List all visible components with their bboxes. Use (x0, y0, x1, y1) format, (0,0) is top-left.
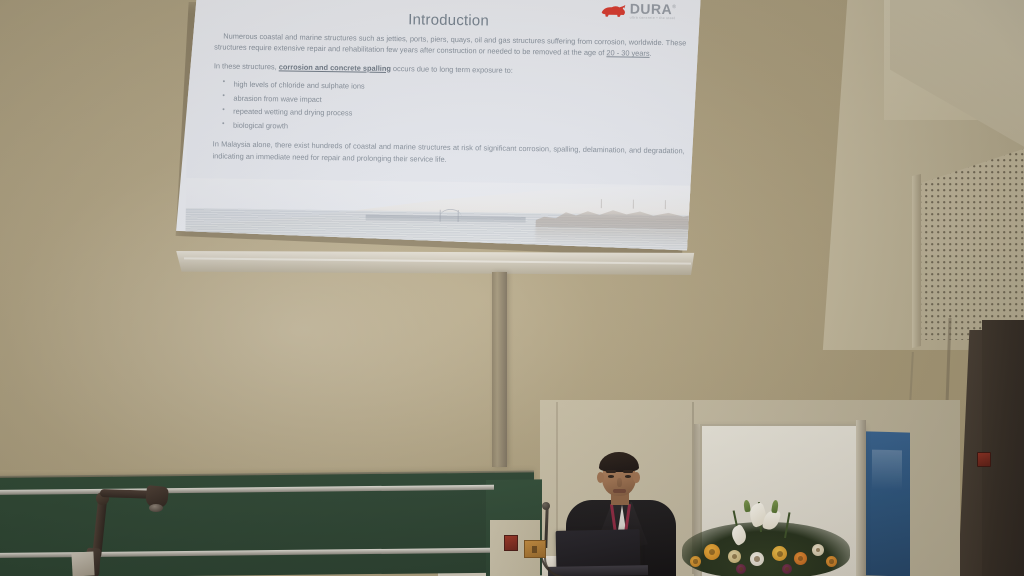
flower-bloom (750, 552, 764, 566)
presenter-nose (617, 478, 622, 487)
flower-bloom (736, 564, 746, 574)
dark-curtain (982, 320, 1024, 576)
flower-bloom (826, 556, 837, 567)
wall-socket-box[interactable] (524, 540, 546, 558)
flower-bloom (690, 556, 701, 567)
presenter-mouth (613, 489, 626, 493)
screen-support-post (492, 272, 507, 467)
presenter-ear-right (633, 472, 640, 483)
fire-alarm-call-point[interactable] (977, 452, 991, 467)
presenter-eyebrow-left (606, 470, 616, 473)
flower-arrangement (676, 500, 856, 576)
fire-alarm-call-point[interactable] (504, 535, 518, 551)
slide-paragraph-1: Numerous coastal and marine structures s… (214, 30, 686, 59)
paragraph-2-part-1: In these structures, (214, 61, 279, 71)
flower-bloom (794, 552, 807, 565)
projected-slide: DURA ultra concrete • the steel Introduc… (185, 0, 705, 264)
paragraph-2-part-3: occurs due to long term exposure to: (391, 64, 513, 75)
side-banner (866, 431, 910, 576)
slide-bullet-list: high levels of chloride and sulphate ion… (213, 78, 686, 137)
board-lamp-base (71, 551, 94, 576)
whiteboard-frame-right (856, 420, 866, 576)
slide-closing-paragraph: In Malaysia alone, there exist hundreds … (212, 139, 684, 168)
presenter-hair (599, 452, 639, 472)
acoustic-panel-edge (912, 174, 921, 348)
screen-surface: DURA ultra concrete • the steel Introduc… (175, 0, 705, 274)
presenter-eye-left (608, 475, 614, 478)
board-lamp-lens (149, 504, 163, 512)
screen-bottom-bar (173, 251, 707, 275)
flower-bloom (728, 550, 741, 563)
projection-screen: DURA ultra concrete • the steel Introduc… (155, 0, 695, 288)
microphone-head-icon[interactable] (542, 502, 550, 510)
flower-bloom (704, 544, 720, 560)
paragraph-1-part-3: . (650, 49, 652, 58)
flower-bloom (782, 564, 792, 574)
presenter-eyebrow-right (623, 470, 633, 473)
dura-logo-word: DURA (630, 1, 677, 16)
flower-bud (743, 500, 751, 513)
paragraph-1-underlined-age: 20 - 30 years (606, 48, 649, 58)
slide-body: Numerous coastal and marine structures s… (212, 30, 686, 175)
slide-paragraph-2: In these structures, corrosion and concr… (214, 60, 686, 78)
flower-bloom (772, 546, 787, 561)
presenter-eye-right (625, 475, 631, 478)
flower-bloom (812, 544, 824, 556)
paragraph-2-emphasis: corrosion and concrete spalling (279, 62, 391, 73)
cable-bundle (544, 552, 584, 576)
presenter-ear-left (597, 472, 604, 483)
presentation-room-photo: DURA ultra concrete • the steel Introduc… (0, 0, 1024, 576)
